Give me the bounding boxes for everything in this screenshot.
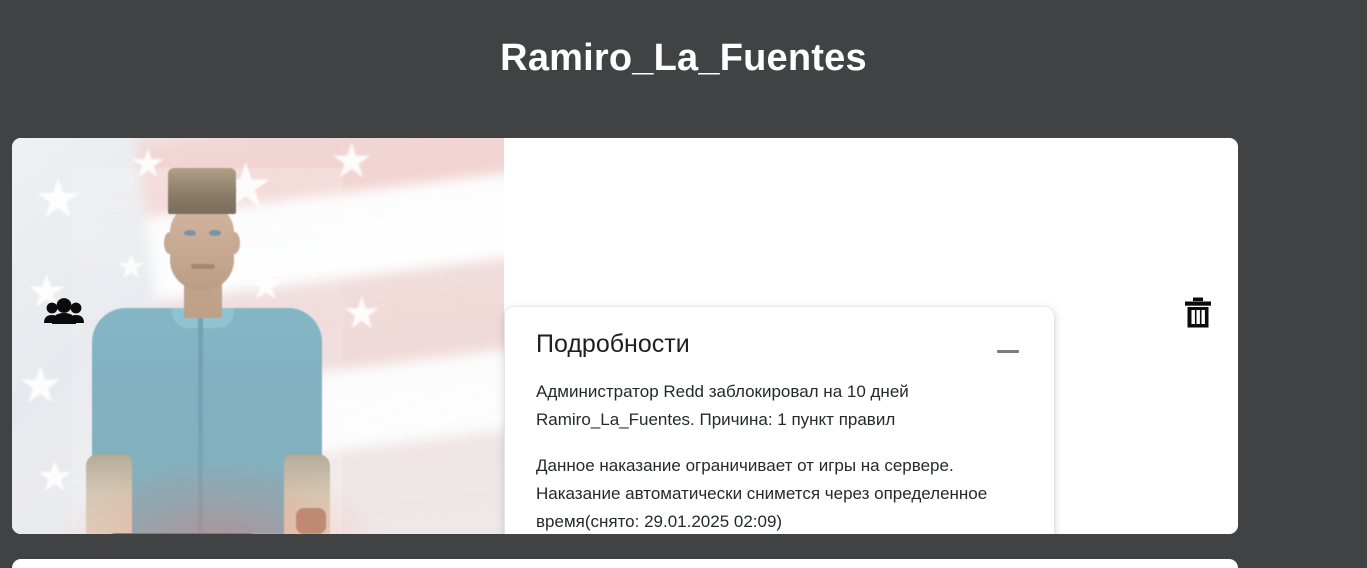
users-group-icon[interactable]: [42, 294, 86, 330]
details-title: Подробности: [536, 329, 690, 360]
flag-star: ★: [18, 360, 63, 410]
punishment-terms: Данное наказание ограничивает от игры на…: [536, 452, 1020, 534]
flag-star: ★: [342, 292, 381, 336]
flag-star: ★: [36, 456, 74, 498]
character-avatar: [72, 168, 342, 534]
punishment-description: Администратор Redd заблокировал на 10 дн…: [536, 378, 1020, 434]
details-header: Подробности: [536, 329, 1024, 365]
status-badge: Заблокирован: [96, 533, 269, 534]
secondary-card: [12, 559, 1238, 568]
profile-card: ★ ★ ★ ★ ★ ★ ★ ★ ★ ★ ★ ★ ★ ★: [12, 138, 1238, 534]
flag-star: ★: [410, 180, 460, 236]
details-panel: Подробности Администратор Redd заблокиро…: [505, 307, 1054, 534]
trash-icon[interactable]: [1180, 294, 1216, 332]
details-body: Администратор Redd заблокировал на 10 дн…: [536, 378, 1024, 534]
minus-icon[interactable]: [992, 337, 1024, 365]
page-title: Ramiro_La_Fuentes: [0, 0, 1367, 80]
